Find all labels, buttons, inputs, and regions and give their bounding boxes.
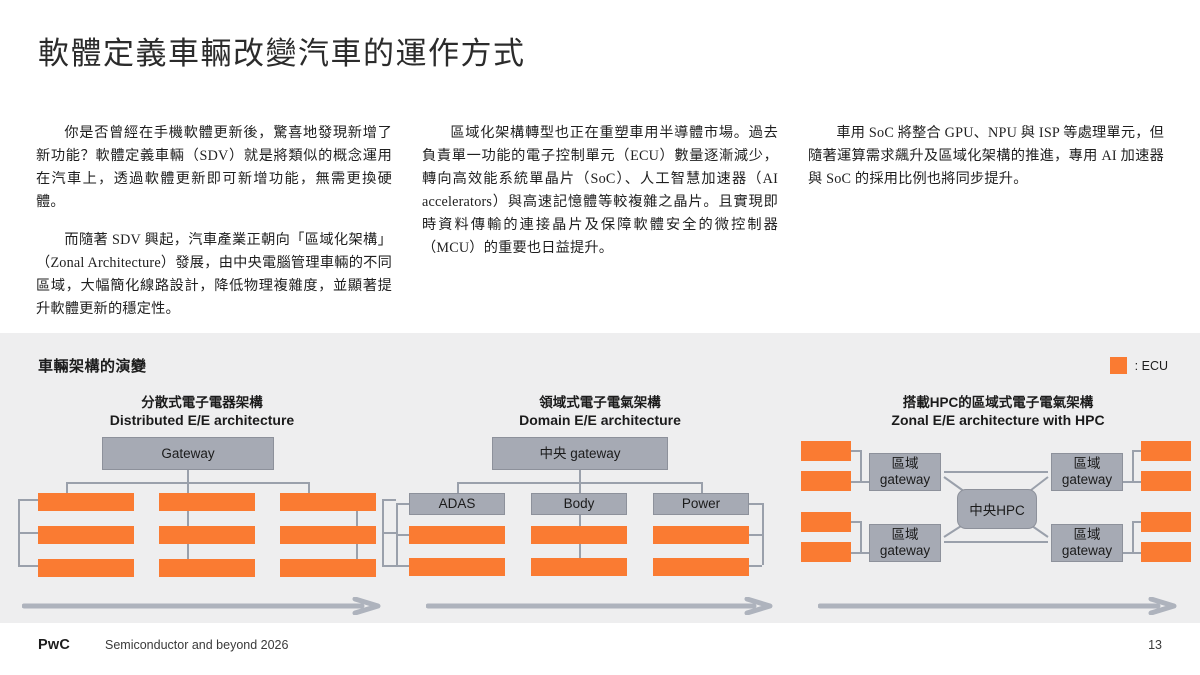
connector-horizontal — [18, 499, 38, 501]
domain-box-adas: ADAS — [409, 493, 505, 515]
zone-gateway-label-line2: gateway — [1062, 543, 1112, 559]
zone-gateway-label-line1: 區域 — [1074, 456, 1101, 472]
connector-vertical — [1132, 450, 1134, 482]
ecu-block — [159, 526, 255, 544]
connector-horizontal — [849, 552, 869, 554]
diagram-heading: 領域式電子電氣架構 Domain E/E architecture — [404, 395, 796, 429]
diagram-distributed: 分散式電子電器架構 Distributed E/E architecture G… — [0, 395, 404, 623]
ecu-block — [801, 512, 851, 532]
connector-horizontal — [849, 481, 869, 483]
ecu-block — [38, 559, 134, 577]
ecu-block — [280, 493, 376, 511]
diagram-domain: 領域式電子電氣架構 Domain E/E architecture 中央 gat… — [404, 395, 796, 623]
central-hpc-box: 中央HPC — [957, 489, 1037, 529]
ecu-block — [531, 526, 627, 544]
footer: PwC Semiconductor and beyond 2026 13 — [0, 623, 1200, 675]
connector-horizontal — [1123, 481, 1143, 483]
page-number: 13 — [1148, 638, 1162, 652]
ecu-block — [159, 493, 255, 511]
ecu-block — [1141, 471, 1191, 491]
zone-gateway-label-line2: gateway — [880, 472, 930, 488]
connector-horizontal — [18, 565, 38, 567]
ecu-block — [280, 526, 376, 544]
connector-horizontal — [382, 565, 396, 567]
ecu-block — [653, 526, 749, 544]
central-gateway-box: 中央 gateway — [492, 437, 668, 470]
connector-horizontal — [18, 532, 38, 534]
legend-label-ecu: : ECU — [1135, 359, 1168, 373]
ecu-block — [38, 526, 134, 544]
ecu-block — [38, 493, 134, 511]
evolution-arrow — [22, 597, 386, 615]
zone-gateway-box: 區域 gateway — [1051, 453, 1123, 491]
connector-horizontal — [396, 565, 409, 567]
diagram-heading-zh: 分散式電子電器架構 — [0, 395, 404, 412]
connector-horizontal — [749, 565, 762, 567]
ecu-block — [409, 526, 505, 544]
brand-logo-pwc: PwC — [38, 637, 70, 653]
connector-vertical — [1132, 521, 1134, 553]
diagram-columns: 分散式電子電器架構 Distributed E/E architecture G… — [0, 395, 1200, 623]
diagram-heading-zh: 領域式電子電氣架構 — [404, 395, 796, 412]
gateway-box: Gateway — [102, 437, 274, 470]
ecu-block — [1141, 512, 1191, 532]
connector-horizontal — [749, 534, 762, 536]
slide-root: 軟體定義車輛改變汽車的運作方式 你是否曾經在手機軟體更新後，驚喜地發現新增了新功… — [0, 0, 1200, 675]
paragraph: 區域化架構轉型也正在重塑車用半導體市場。過去負責單一功能的電子控制單元（ECU）… — [422, 122, 778, 260]
zone-gateway-label-line2: gateway — [1062, 472, 1112, 488]
zone-gateway-label-line1: 區域 — [1074, 527, 1101, 543]
ecu-block — [159, 559, 255, 577]
paragraph: 車用 SoC 將整合 GPU、NPU 與 ISP 等處理單元，但隨著運算需求飆升… — [808, 122, 1164, 191]
ecu-block — [531, 558, 627, 576]
body-column-2: 區域化架構轉型也正在重塑車用半導體市場。過去負責單一功能的電子控制單元（ECU）… — [422, 122, 778, 321]
zone-gateway-box: 區域 gateway — [869, 453, 941, 491]
diagram-heading-en: Zonal E/E architecture with HPC — [796, 412, 1200, 430]
zone-gateway-label-line1: 區域 — [892, 456, 919, 472]
ecu-block — [1141, 441, 1191, 461]
ecu-block — [409, 558, 505, 576]
diagram-heading-en: Domain E/E architecture — [404, 412, 796, 430]
diagram-panel: 車輛架構的演變 : ECU 分散式電子電器架構 Distributed E/E … — [0, 333, 1200, 623]
connector-horizontal — [749, 503, 762, 505]
zone-gateway-box: 區域 gateway — [1051, 524, 1123, 562]
ecu-block — [1141, 542, 1191, 562]
body-column-3: 車用 SoC 將整合 GPU、NPU 與 ISP 等處理單元，但隨著運算需求飆升… — [808, 122, 1164, 321]
body-columns: 你是否曾經在手機軟體更新後，驚喜地發現新增了新功能？軟體定義車輛（SDV）就是將… — [36, 122, 1166, 321]
zone-gateway-label-line2: gateway — [880, 543, 930, 559]
connector-vertical — [762, 503, 764, 565]
connector-vertical — [860, 521, 862, 553]
page-title: 軟體定義車輛改變汽車的運作方式 — [38, 28, 526, 73]
diagram-heading-en: Distributed E/E architecture — [0, 412, 404, 430]
evolution-arrow — [818, 597, 1182, 615]
ecu-block — [653, 558, 749, 576]
diagram-stage: 中央HPC 區域 gateway 區域 gateway 區域 gateway — [796, 437, 1200, 582]
ecu-block — [801, 471, 851, 491]
paragraph: 而隨著 SDV 興起，汽車產業正朝向「區域化架構」（Zonal Architec… — [36, 229, 392, 321]
evolution-arrow — [426, 597, 778, 615]
paragraph: 你是否曾經在手機軟體更新後，驚喜地發現新增了新功能？軟體定義車輛（SDV）就是將… — [36, 122, 392, 214]
connector-horizontal — [382, 499, 396, 501]
ecu-block — [801, 542, 851, 562]
diagram-heading: 搭載HPC的區域式電子電氣架構 Zonal E/E architecture w… — [796, 395, 1200, 429]
connector-horizontal — [396, 503, 409, 505]
domain-box-body: Body — [531, 493, 627, 515]
diagram-heading-zh: 搭載HPC的區域式電子電氣架構 — [796, 395, 1200, 412]
connector-vertical — [860, 450, 862, 482]
diagram-heading: 分散式電子電器架構 Distributed E/E architecture — [0, 395, 404, 429]
diagram-zonal: 搭載HPC的區域式電子電氣架構 Zonal E/E architecture w… — [796, 395, 1200, 623]
ecu-block — [801, 441, 851, 461]
legend: : ECU — [1110, 357, 1168, 374]
connector-horizontal — [1123, 552, 1143, 554]
zone-gateway-label-line1: 區域 — [892, 527, 919, 543]
ecu-block — [280, 559, 376, 577]
footer-text: Semiconductor and beyond 2026 — [105, 638, 288, 652]
domain-box-power: Power — [653, 493, 749, 515]
connector-horizontal — [382, 532, 396, 534]
body-column-1: 你是否曾經在手機軟體更新後，驚喜地發現新增了新功能？軟體定義車輛（SDV）就是將… — [36, 122, 392, 321]
legend-swatch-ecu — [1110, 357, 1127, 374]
diagram-panel-title: 車輛架構的演變 — [38, 355, 147, 376]
zone-gateway-box: 區域 gateway — [869, 524, 941, 562]
connector-horizontal — [396, 534, 409, 536]
diagram-stage: Gateway — [0, 437, 404, 582]
diagram-stage: 中央 gateway ADAS Body Power — [404, 437, 796, 582]
